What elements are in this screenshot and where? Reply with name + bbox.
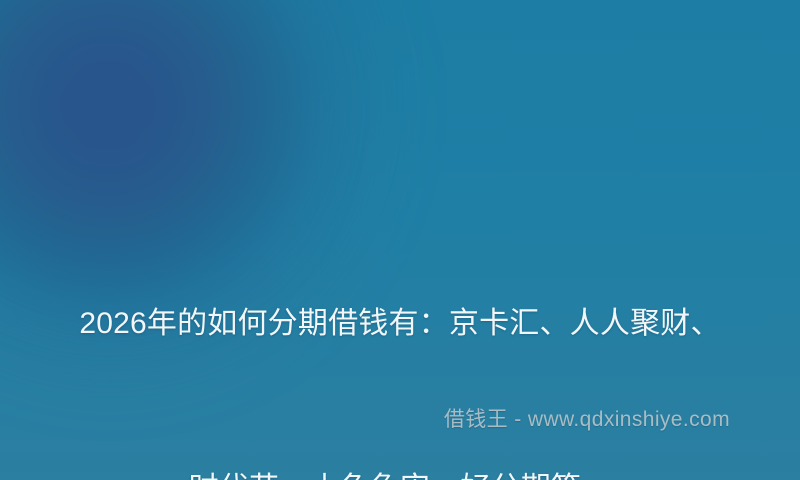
headline: 2026年的如何分期借钱有：京卡汇、人人聚财、 时代花、小鱼免审、好分期等。 [0, 186, 800, 480]
headline-line-2: 时代花、小鱼免审、好分期等。 [52, 461, 748, 480]
watermark: 借钱王 - www.qdxinshiye.com [444, 405, 730, 435]
headline-line-1: 2026年的如何分期借钱有：京卡汇、人人聚财、 [52, 296, 748, 351]
promo-banner: 2026年的如何分期借钱有：京卡汇、人人聚财、 时代花、小鱼免审、好分期等。 借… [0, 0, 800, 480]
